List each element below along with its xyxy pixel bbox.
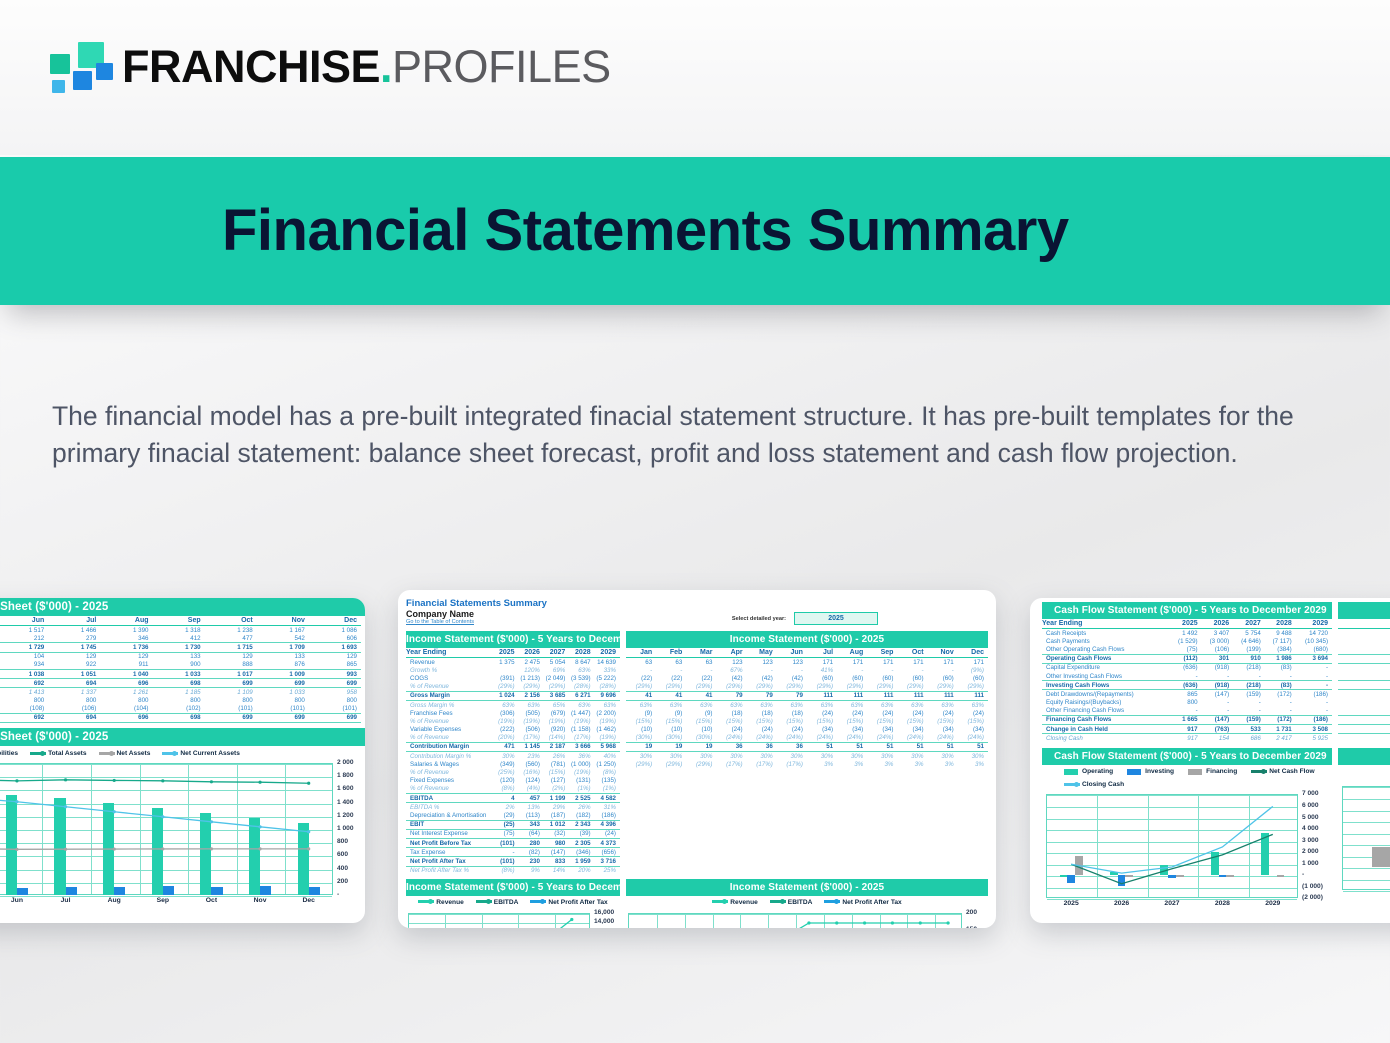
x-axis-label: 2025 [1046,900,1096,907]
table-cell: (24) [807,709,837,717]
table-cell: 19 [656,742,686,751]
table-cell: (34) [928,726,958,734]
table-row: Closing Cash9171546862 4175 925 [1042,734,1332,743]
table-cell: (10) [656,726,686,734]
y-axis-label: 6 000 [1302,802,1319,809]
y-axis-label: 150 [966,926,977,928]
table-row: Other Financing Cash Flows----- [1042,707,1332,716]
column-header: Year Ending [1042,619,1170,629]
table-cell: 3% [837,760,867,768]
table-cell: (172) [1265,690,1296,699]
table-row: Other Operating Cash Flows(75)(106)(199)… [1042,645,1332,654]
table-cell: 1 789 [1338,715,1390,724]
table-cell: (4%) [519,785,544,794]
row-label: Growth % [406,666,497,674]
table-cell: 346 [100,634,152,643]
table-cell: 63% [716,700,746,709]
table-cell: 800 [0,697,48,705]
x-axis-label: 2028 [1197,900,1247,907]
table-cell: - [1233,672,1265,681]
table-cell: (8%) [497,866,519,875]
table-cell: 33% [595,666,620,674]
table-cell: 888 [205,661,257,670]
table-cell: (781) [544,760,569,768]
cash-flow-card[interactable]: Cash Flow Statement ($'000) - 5 Years to… [1030,598,1390,923]
table-cell: - [656,666,686,674]
table-cell: 1 375 [497,658,519,667]
cf-spacer-bar [1338,602,1390,619]
table-cell: 900 [153,661,205,670]
table-cell: 30% [897,752,927,761]
table-row: Salaries & Wages(349)(560)(781)(1 000)(1… [406,760,620,768]
table-cell: 154 [1202,734,1234,743]
table-cell: (22) [1338,654,1390,663]
table-cell: 79 [716,691,746,700]
table-cell: 111 [958,691,988,700]
column-header: 2027 [1233,619,1265,629]
table-cell: (186) [595,811,620,820]
table-row: 703692694696698699699699 [0,679,361,688]
table-cell: - [777,666,807,674]
table-cell: (15%) [897,717,927,725]
table-cell: 20% [569,866,594,875]
income-statement-card[interactable]: Financial Statements Summary Company Nam… [398,590,996,928]
row-label: Net Profit Before Tax [406,838,497,847]
table-cell: (24) [716,726,746,734]
x-axis-label: Nov [236,897,285,904]
table-cell: - [1296,681,1332,690]
table-cell: 865 [1170,690,1202,699]
toc-link[interactable]: Go to the Table of Contents [406,619,547,625]
row-label: Cash Receipts [1042,629,1170,638]
table-row: 703692694696698699699699 [0,713,361,722]
table-cell: 1 109 [205,688,257,697]
table-cell: (101) [205,705,257,714]
table-cell: (19%) [595,717,620,725]
table-row: Gross Margin %63%63%65%63%63% [406,700,620,709]
table-cell: 19 [626,742,656,751]
table-row: 1 7491 7291 7451 7361 7301 7151 7091 693 [0,643,361,652]
table-cell: - [1170,707,1202,716]
table-cell: (42) [747,674,777,682]
table-cell: (218) [1233,681,1265,690]
table-cell: 171 [928,658,958,667]
table-cell: 30% [807,752,837,761]
table-row: 989 [1338,690,1390,699]
table-cell: (29%) [626,683,656,692]
table-cell: (29%) [656,683,686,692]
table-cell: (1 447) [569,709,594,717]
table-cell: (29) [497,811,519,820]
table-cell: 111 [897,691,927,700]
table-cell: (34) [807,726,837,734]
column-header: Nov [257,616,309,626]
table-cell: 980 [544,838,569,847]
table-cell: 699 [257,713,309,722]
table-cell: 133 [257,652,309,661]
brand-dot: . [380,41,392,92]
row-label: Change in Cash Held [1042,725,1170,734]
table-cell: (29%) [837,683,867,692]
table-row: (7) [1338,645,1390,654]
table-cell: (28%) [569,683,594,692]
is-2025-chart-title: Income Statement ($'000) - 2025 [626,879,988,896]
table-cell: (19%) [519,717,544,725]
brand-logo: FRANCHISE.PROFILES [48,40,611,92]
table-cell: 30% [747,752,777,761]
table-cell: 23% [519,752,544,761]
table-cell: 63% [626,700,656,709]
cash-flow-chart: (2 000)(1 000)-1 0002 0003 0004 0005 000… [1042,790,1332,914]
legend-item: Operating [1064,768,1113,775]
table-cell: 30% [777,752,807,761]
table-cell: - [686,666,716,674]
x-axis-label: Oct [187,897,236,904]
table-row: 800 [1338,699,1390,707]
table-cell: (18) [747,709,777,717]
table-cell: (60) [837,674,867,682]
table-cell: 111 [928,691,958,700]
table-cell: 533 [1233,725,1265,734]
table-cell: (120) [497,777,519,785]
table-row: 945934922911900888876865 [0,661,361,670]
table-cell: (763) [1202,725,1234,734]
table-header-row: Year Ending20252026202720282029 [406,648,620,658]
cash-flow-table: Year Ending20252026202720282029Cash Rece… [1042,619,1332,742]
column-header: May [747,648,777,658]
table-cell: (24%) [958,734,988,743]
legend-item: EBITDA [476,899,519,906]
row-label: Tax Expense [406,848,497,857]
row-label: Operating Cash Flows [1042,654,1170,663]
cash-flow-jan-chart: (2 000)(1 000)-1 0002 0003 0004 0005 000… [1338,782,1390,906]
table-cell: 36% [569,752,594,761]
table-cell: (918) [1202,681,1234,690]
table-cell: (14%) [544,734,569,743]
legend-item: Revenue [418,899,464,906]
is-5yr-chart-title: Income Statement ($'000) - 5 Years to De… [406,879,620,896]
table-row: Depreciation & Amortisation(29)(113)(187… [406,811,620,820]
table-cell: 171 [807,658,837,667]
table-cell: (18) [716,709,746,717]
x-axis-label: 2027 [1147,900,1197,907]
table-cell: 696 [100,679,152,688]
table-row: 63%63%63%63%63%63%63%63%63%63%63%63% [626,700,988,709]
table-row: Franchise Fees(306)(505)(679)(1 447)(2 2… [406,709,620,717]
table-cell: (29%) [716,683,746,692]
table-cell: 989 [1338,690,1390,699]
table-cell: 917 [1170,725,1202,734]
table-cell: 412 [153,634,205,643]
table-cell: (15%) [837,717,867,725]
table-cell: 63% [497,700,519,709]
table-cell: 694 [48,679,100,688]
cf-jan-chart-title [1338,748,1390,765]
table-cell: 1 693 [309,643,361,652]
table-cell: 111 [837,691,867,700]
balance-sheet-card[interactable]: Balance Sheet ($'000) - 2025 MayJunJulAu… [0,598,365,923]
table-row: Tax Expense-(82)(147)(346)(656) [406,848,620,857]
table-cell [497,666,519,674]
table-row: 1 731 [1338,734,1390,743]
table-cell: 63% [519,700,544,709]
y-axis-label: 200 [966,909,977,916]
table-cell: (34) [867,726,897,734]
table-cell: (24%) [897,734,927,743]
table-cell: 1 715 [205,643,257,652]
table-cell: (19%) [544,717,569,725]
table-row: Capital Expenditure(636)(918)(218)(83)- [1042,663,1332,672]
table-cell: (106) [48,705,100,714]
table-cell: 41 [686,691,716,700]
column-header: Jul [48,616,100,626]
table-cell: 63% [569,666,594,674]
legend-item: Financing [1188,768,1237,775]
column-header: 2026 [1202,619,1234,629]
table-cell: 876 [257,661,309,670]
table-cell: 4 373 [595,838,620,847]
table-cell: 934 [0,661,48,670]
table-cell: 2 343 [569,820,594,829]
page-title: Financial Statements Summary [222,202,1069,260]
table-cell: (920) [544,726,569,734]
table-row: Revenue1 3752 4755 0548 64714 639 [406,658,620,667]
column-header: Mar [686,648,716,658]
table-cell: 800 [100,697,152,705]
table-cell: 104 [0,652,48,661]
table-cell: - [626,666,656,674]
row-label: Salaries & Wages [406,760,497,768]
table-cell: (218) [1233,663,1265,672]
table-cell: (29%) [686,760,716,768]
table-cell: 1 492 [1170,629,1202,638]
table-cell: 1 017 [205,669,257,678]
table-cell: (60) [928,674,958,682]
table-cell: 36 [747,742,777,751]
table-cell: (1 158) [569,726,594,734]
table-cell: (24) [928,709,958,717]
table-cell: 911 [100,661,152,670]
table-cell: 1 009 [257,669,309,678]
table-cell: 14 639 [595,658,620,667]
table-row: Cash Payments(1 529)(3 000)(4 646)(7 117… [1042,637,1332,645]
y-axis-label: 14,000 [594,918,614,925]
table-row: Net Profit After Tax(101)2308331 9593 71… [406,857,620,866]
table-cell: 1 033 [153,669,205,678]
column-header: Year Ending [406,648,497,658]
income-statement-monthly-table: JanFebMarAprMayJunJulAugSepOctNovDec6363… [626,648,988,768]
table-cell: (15%) [958,717,988,725]
row-label: Gross Margin % [406,700,497,709]
logo-squares-icon [48,40,108,92]
table-cell: 133 [153,652,205,661]
row-label: Investing Cash Flows [1042,681,1170,690]
table-row: (29%)(29%)(29%)(17%)(17%)(17%)3%3%3%3%3%… [626,760,988,768]
table-cell: (36) [1338,663,1390,672]
table-cell: (29%) [777,683,807,692]
table-cell: 129 [48,652,100,661]
intro-paragraph: The financial model has a pre-built inte… [52,398,1337,472]
row-label: Financing Cash Flows [1042,715,1170,724]
legend-item: Net Profit After Tax [530,899,607,906]
table-cell: 606 [309,634,361,643]
table-cell: - [1170,672,1202,681]
table-cell: (15%) [686,717,716,725]
table-cell: - [928,666,958,674]
table-cell: 32 [1338,629,1390,638]
table-cell: - [747,666,777,674]
table-cell: 63% [686,700,716,709]
table-cell: (112) [1170,654,1202,663]
table-cell: (24%) [837,734,867,743]
table-cell: 9% [519,866,544,875]
table-cell: (19%) [569,717,594,725]
table-cell: - [1233,707,1265,716]
table-row: (47) [1338,637,1390,645]
table-cell: - [1296,663,1332,672]
table-cell: 1 730 [153,643,205,652]
table-row: 32 [1338,629,1390,638]
table-cell: 1 959 [569,857,594,866]
column-header: Jan [1338,619,1390,629]
table-cell: 694 [48,713,100,722]
row-label: Debt Drawdowns/(Repayments) [1042,690,1170,699]
table-cell: 910 [1233,654,1265,663]
y-axis-label: (1 000) [1302,883,1323,890]
table-cell: 471 [497,742,519,751]
table-cell: (4 646) [1233,637,1265,645]
table-cell: 3 685 [544,691,569,700]
table-cell: (1 529) [1170,637,1202,645]
table-cell: 171 [958,658,988,667]
table-cell: (2 049) [544,674,569,682]
table-cell: 1 318 [153,626,205,635]
column-header: Oct [205,616,257,626]
column-header: Dec [958,648,988,658]
table-cell: 30% [928,752,958,761]
row-label: Contribution Margin [406,742,497,751]
table-cell: (1%) [569,785,594,794]
legend-item: Net Current Assets [162,750,239,757]
table-cell: 800 [257,697,309,705]
row-label: EBITDA % [406,803,497,812]
table-cell: 51 [867,742,897,751]
table-cell: (7 117) [1265,637,1296,645]
x-axis-label: Dec [284,897,333,904]
table-cell: 29% [544,803,569,812]
table-cell: 26% [544,752,569,761]
table-row: 1 731 [1338,725,1390,734]
table-cell: - [867,666,897,674]
table-cell: (172) [1265,715,1296,724]
row-label: Franchise Fees [406,709,497,717]
table-cell: 51 [837,742,867,751]
screenshot-gallery: Balance Sheet ($'000) - 2025 MayJunJulAu… [0,590,1390,935]
table-cell: 3 508 [1296,725,1332,734]
is-5yr-title: Income Statement ($'000) - 5 Years to De… [406,631,620,648]
table-cell: (20%) [497,734,519,743]
table-cell: (24) [867,709,897,717]
y-axis-label: 2 000 [337,759,354,766]
table-cell: (2 200) [595,709,620,717]
balance-sheet-chart-title: Balance Sheet ($'000) - 2025 [0,728,365,746]
column-header: 2026 [519,648,544,658]
y-axis-label: 16,000 [594,909,614,916]
table-cell: 111 [867,691,897,700]
y-axis-label: (2 000) [1302,894,1323,901]
row-label: Variable Expenses [406,726,497,734]
table-cell: (22) [686,674,716,682]
column-header: Apr [716,648,746,658]
table-cell: (222) [497,726,519,734]
table-cell: (918) [1202,663,1234,672]
table-cell: 69% [544,666,569,674]
row-label: Other Financing Cash Flows [1042,707,1170,716]
table-cell: 922 [48,661,100,670]
table-cell: (60) [867,674,897,682]
y-axis-label: 1 800 [337,772,354,779]
table-cell: 1 731 [1338,725,1390,734]
table-cell: 1 390 [100,626,152,635]
table-cell: (29%) [544,683,569,692]
table-cell: (17%) [777,760,807,768]
table-cell: 41 [626,691,656,700]
table-cell: (9) [626,709,656,717]
table-row: % of Revenue(29%)(29%)(29%)(28%)(28%) [406,683,620,692]
y-axis-label: 3 000 [1302,837,1319,844]
y-axis-label: - [337,891,339,898]
table-cell: 63% [897,700,927,709]
year-picker-input[interactable]: 2025 [794,612,878,625]
table-row: Variable Expenses(222)(506)(920)(1 158)(… [406,726,620,734]
table-cell: (29%) [656,760,686,768]
year-picker-label: Select detailed year: [732,616,786,622]
table-cell: 698 [153,713,205,722]
table-cell: (24) [837,709,867,717]
column-header: 2025 [1170,619,1202,629]
table-cell: 1 051 [48,669,100,678]
table-cell: 30% [656,752,686,761]
table-cell: 3% [928,760,958,768]
table-cell: 917 [1170,734,1202,743]
row-label: Fixed Expenses [406,777,497,785]
table-cell: 3 716 [595,857,620,866]
column-header: Jan [626,648,656,658]
table-cell: 1 986 [1265,654,1296,663]
table-cell: - [1265,707,1296,716]
table-cell: (24) [747,726,777,734]
table-cell: (17%) [716,760,746,768]
table-cell: 51 [928,742,958,751]
table-row: 414141797979111111111111111111 [626,691,988,700]
table-cell: 343 [519,820,544,829]
income-statement-5yr-table: Year Ending20252026202720282029Revenue1 … [406,648,620,875]
table-cell: (15%) [928,717,958,725]
table-cell: 63% [777,700,807,709]
table-cell: 79 [747,691,777,700]
table-row: Change in Cash Held917(763)5331 7313 508 [1042,725,1332,734]
table-row: ---67%--41%----(9%) [626,666,988,674]
balance-sheet-chart: -2004006008001 0001 2001 4001 6001 8002 … [0,759,365,911]
table-cell: (18) [777,709,807,717]
legend-item: Net Profit After Tax [824,899,901,906]
table-cell: 1 024 [497,691,519,700]
table-cell: 13% [519,803,544,812]
table-cell: (29%) [897,683,927,692]
table-row: (97)(108)(106)(104)(102)(101)(101)(101) [0,705,361,714]
table-cell: 9 488 [1265,629,1296,638]
table-cell: (636) [1170,663,1202,672]
